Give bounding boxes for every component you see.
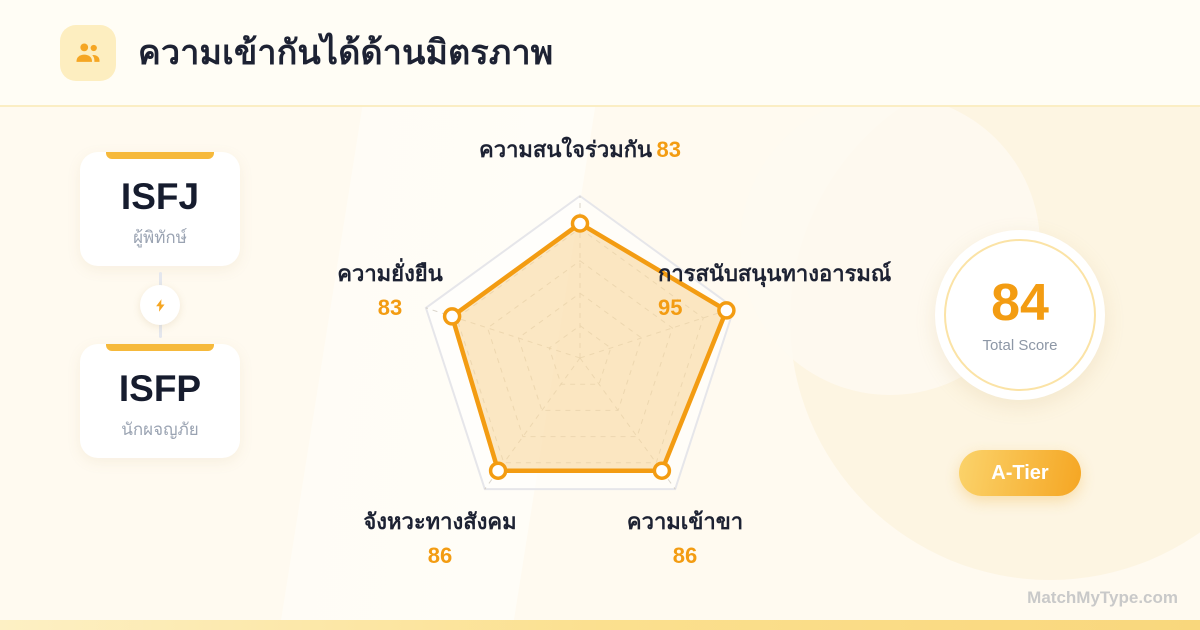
header-bar: ความเข้ากันได้ด้านมิตรภาพ	[0, 0, 1200, 107]
axis-value-bottom-right: 86	[575, 542, 795, 570]
axis-name-left: ความยั่งยืน	[295, 260, 485, 288]
total-score-panel: 84 Total Score A-Tier	[935, 230, 1105, 496]
axis-name-top: ความสนใจร่วมกัน	[479, 137, 652, 162]
axis-label-right: การสนับสนุนทางอารมณ์ 95	[658, 260, 891, 321]
axis-label-top: ความสนใจร่วมกัน 83	[300, 136, 860, 164]
axis-label-bottom-right: ความเข้าขา 86	[575, 508, 795, 569]
card-accent-bar	[106, 344, 214, 351]
axis-value-left: 83	[295, 294, 485, 322]
type-pair-panel: ISFJ ผู้พิทักษ์ ISFP นักผจญภัย	[80, 152, 240, 458]
tier-badge: A-Tier	[959, 450, 1081, 496]
bottom-accent-bar	[0, 620, 1200, 630]
type-name-second: นักผจญภัย	[80, 421, 240, 438]
type-code-second: ISFP	[80, 370, 240, 407]
type-card-first[interactable]: ISFJ ผู้พิทักษ์	[80, 152, 240, 266]
axis-label-left: ความยั่งยืน 83	[295, 260, 485, 321]
type-name-first: ผู้พิทักษ์	[80, 229, 240, 246]
radar-chart: ความสนใจร่วมกัน 83 การสนับสนุนทางอารมณ์ …	[300, 118, 860, 588]
people-group-icon	[60, 25, 116, 81]
total-score-circle: 84 Total Score	[935, 230, 1105, 400]
infographic-canvas: ความเข้ากันได้ด้านมิตรภาพ ISFJ ผู้พิทักษ…	[0, 0, 1200, 630]
axis-name-bottom-left: จังหวะทางสังคม	[330, 508, 550, 536]
total-score-label: Total Score	[982, 338, 1057, 353]
type-connector	[80, 266, 240, 344]
axis-value-top: 83	[657, 137, 681, 162]
axis-name-bottom-right: ความเข้าขา	[575, 508, 795, 536]
site-watermark: MatchMyType.com	[1027, 588, 1178, 608]
lightning-bolt-icon	[140, 285, 180, 325]
axis-label-bottom-left: จังหวะทางสังคม 86	[330, 508, 550, 569]
axis-value-right: 95	[658, 294, 891, 322]
page-title: ความเข้ากันได้ด้านมิตรภาพ	[138, 36, 553, 70]
type-card-second[interactable]: ISFP นักผจญภัย	[80, 344, 240, 458]
type-code-first: ISFJ	[80, 178, 240, 215]
axis-value-bottom-left: 86	[330, 542, 550, 570]
card-accent-bar	[106, 152, 214, 159]
total-score-value: 84	[991, 277, 1049, 329]
axis-name-right: การสนับสนุนทางอารมณ์	[658, 260, 891, 288]
